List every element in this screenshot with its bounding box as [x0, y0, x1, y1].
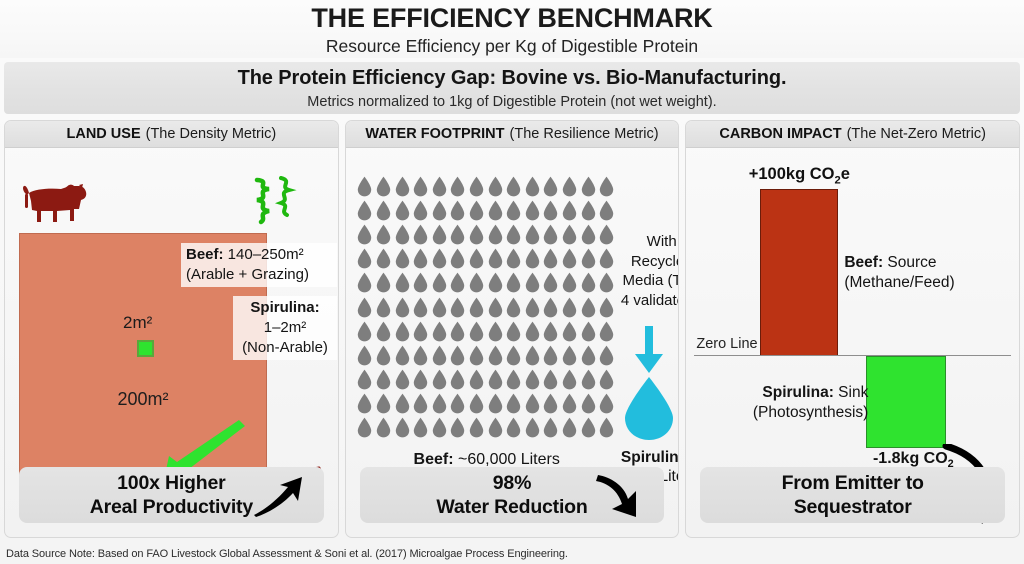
beef-land-area-label: 200m² [20, 389, 266, 410]
water-droplet-icon [430, 198, 449, 222]
water-droplet-icon [430, 247, 449, 271]
beef-carbon-note-rest: Source [883, 254, 936, 271]
banner-subtitle: Metrics normalized to 1kg of Digestible … [4, 92, 1020, 112]
water-droplet-icon [411, 271, 430, 295]
water-droplet-icon [374, 368, 393, 392]
beef-carbon-note: Beef: Source (Methane/Feed) [844, 253, 1004, 293]
water-droplet-icon [504, 222, 523, 246]
carbon-summary-text: From Emitter to Sequestrator [782, 471, 924, 519]
water-droplet-icon [504, 174, 523, 198]
spirulina-land-callout-label: Spirulina: [250, 299, 319, 316]
water-droplet-icon [449, 247, 468, 271]
water-droplet-icon [560, 198, 579, 222]
panels-row: LAND USE (The Density Metric) [4, 120, 1020, 538]
water-droplet-icon [374, 295, 393, 319]
panel-carbon-impact-body: +100kg CO2e Zero Line Beef: Source (Meth… [686, 148, 1019, 537]
water-droplet-icon [486, 247, 505, 271]
water-droplet-icon [486, 319, 505, 343]
water-droplet-icon [393, 392, 412, 416]
beef-water-droplet-grid [356, 174, 616, 440]
water-droplet-icon [411, 392, 430, 416]
water-droplet-icon [467, 392, 486, 416]
water-droplet-icon [597, 392, 616, 416]
down-arrow-icon [594, 473, 642, 519]
water-droplet-icon [560, 368, 579, 392]
water-droplet-icon [523, 416, 542, 440]
water-droplet-icon [430, 392, 449, 416]
water-droplet-icon [449, 416, 468, 440]
water-droplet-icon [542, 247, 561, 271]
water-droplet-icon [523, 271, 542, 295]
spirulina-carbon-note-bold: Spirulina: [762, 384, 833, 401]
water-droplet-icon [523, 343, 542, 367]
water-droplet-icon [560, 222, 579, 246]
infographic-root: THE EFFICIENCY BENCHMARK Resource Effici… [0, 0, 1024, 564]
water-droplet-icon [467, 343, 486, 367]
water-droplet-icon [356, 392, 375, 416]
water-droplet-icon [356, 295, 375, 319]
carbon-summary-line1: From Emitter to [782, 471, 924, 495]
water-droplet-icon [597, 222, 616, 246]
water-droplet-icon [411, 368, 430, 392]
water-droplet-icon [504, 198, 523, 222]
water-droplet-icon [560, 343, 579, 367]
spirulina-carbon-bar [866, 356, 946, 448]
spirulina-land-callout: Spirulina: 1–2m² (Non-Arable) [233, 296, 337, 360]
water-droplet-icon [449, 295, 468, 319]
water-droplet-icon [449, 271, 468, 295]
water-droplet-icon [523, 198, 542, 222]
spirulina-land-area-square [137, 340, 154, 357]
water-droplet-icon [430, 271, 449, 295]
water-droplet-icon [467, 295, 486, 319]
spirulina-carbon-note-rest: Sink [834, 384, 868, 401]
water-droplet-icon [393, 247, 412, 271]
water-droplet-icon [356, 343, 375, 367]
water-summary-line1: 98% [436, 471, 587, 495]
water-droplet-icon [523, 222, 542, 246]
water-droplet-icon [393, 416, 412, 440]
up-arrow-icon [252, 475, 306, 517]
water-droplet-icon [374, 247, 393, 271]
water-droplet-icon [504, 368, 523, 392]
cyan-down-arrow-icon [632, 326, 666, 374]
panel-water-footprint: WATER FOOTPRINT (The Resilience Metric) … [345, 120, 680, 538]
water-droplet-icon [504, 416, 523, 440]
beef-land-callout: Beef: 140–250m² (Arable + Grazing) [181, 243, 337, 287]
spirulina-carbon-note: Spirulina: Sink (Photosynthesis) [734, 383, 868, 423]
water-droplet-icon [374, 343, 393, 367]
water-droplet-icon [579, 416, 598, 440]
water-droplet-icon [467, 368, 486, 392]
water-droplet-icon [393, 295, 412, 319]
water-droplet-icon [597, 247, 616, 271]
water-droplet-icon [560, 174, 579, 198]
water-droplet-icon [374, 222, 393, 246]
water-droplet-icon [393, 222, 412, 246]
panel-land-use: LAND USE (The Density Metric) [4, 120, 339, 538]
water-droplet-icon [486, 343, 505, 367]
water-droplet-icon [356, 368, 375, 392]
water-droplet-icon [560, 319, 579, 343]
panel-water-footprint-title: WATER FOOTPRINT [365, 126, 504, 142]
water-droplet-icon [411, 198, 430, 222]
water-droplet-icon [356, 247, 375, 271]
water-droplet-icon [374, 392, 393, 416]
water-summary-pill: 98% Water Reduction [360, 467, 665, 523]
water-droplet-icon [523, 319, 542, 343]
water-droplet-icon [486, 295, 505, 319]
water-droplet-icon [374, 319, 393, 343]
panel-water-footprint-body: Beef: ~60,000 Liters With Recycled Media… [346, 148, 679, 537]
water-droplet-icon [467, 222, 486, 246]
spirulina-water-label-bold: Spirulina: [621, 449, 679, 466]
water-droplet-icon [542, 222, 561, 246]
water-droplet-icon [542, 198, 561, 222]
water-droplet-icon [374, 198, 393, 222]
carbon-summary-pill: From Emitter to Sequestrator [700, 467, 1005, 523]
water-droplet-icon [560, 392, 579, 416]
water-droplet-icon [579, 295, 598, 319]
carbon-summary-line2: Sequestrator [782, 495, 924, 519]
beef-carbon-note-bold: Beef: [844, 254, 883, 271]
water-droplet-icon [467, 416, 486, 440]
water-droplet-icon [467, 174, 486, 198]
water-droplet-icon [579, 198, 598, 222]
water-droplet-icon [523, 368, 542, 392]
panel-land-use-body: 200m² 2m² Beef: 140–250m² (Ar [5, 148, 338, 537]
recycled-media-note: With Recycled Media (TRL 4 validated). [618, 232, 680, 310]
water-droplet-icon [430, 368, 449, 392]
zero-line [694, 355, 1011, 356]
water-summary-text: 98% Water Reduction [436, 471, 587, 519]
water-droplet-icon [560, 271, 579, 295]
water-droplet-icon [542, 392, 561, 416]
water-droplet-icon [486, 392, 505, 416]
land-use-summary-pill: 100x Higher Areal Productivity [19, 467, 324, 523]
water-droplet-icon [449, 343, 468, 367]
water-droplet-icon [597, 198, 616, 222]
source-note: Data Source Note: Based on FAO Livestock… [6, 548, 568, 560]
spirulina-land-area-label: 2m² [123, 313, 152, 333]
water-droplet-icon [579, 222, 598, 246]
water-droplet-icon [523, 392, 542, 416]
water-droplet-icon [504, 247, 523, 271]
water-droplet-icon [356, 319, 375, 343]
masthead: THE EFFICIENCY BENCHMARK Resource Effici… [0, 0, 1024, 58]
water-droplet-icon [430, 174, 449, 198]
beef-carbon-bar [760, 189, 838, 356]
water-droplet-icon [504, 271, 523, 295]
beef-water-label-bold: Beef: [414, 451, 454, 468]
spirulina-squiggle-icon [251, 176, 297, 226]
water-droplet-icon [486, 271, 505, 295]
panel-water-footprint-header: WATER FOOTPRINT (The Resilience Metric) [346, 121, 679, 148]
water-droplet-icon [393, 198, 412, 222]
water-droplet-icon [504, 319, 523, 343]
panel-carbon-impact-subtitle: (The Net-Zero Metric) [847, 126, 986, 142]
water-droplet-icon [542, 295, 561, 319]
water-droplet-icon [597, 416, 616, 440]
water-droplet-icon [542, 319, 561, 343]
water-droplet-icon [467, 198, 486, 222]
water-droplet-icon [449, 392, 468, 416]
water-droplet-icon [449, 319, 468, 343]
beef-water-label-value: ~60,000 Liters [454, 451, 560, 468]
water-droplet-icon [579, 174, 598, 198]
water-droplet-icon [467, 247, 486, 271]
water-droplet-icon [449, 368, 468, 392]
water-droplet-icon [579, 271, 598, 295]
water-droplet-icon [356, 271, 375, 295]
water-droplet-icon [486, 198, 505, 222]
page-title: THE EFFICIENCY BENCHMARK [0, 0, 1024, 34]
beef-land-callout-label: Beef: [186, 246, 224, 263]
beef-carbon-note-sub: (Methane/Feed) [844, 273, 1004, 293]
water-droplet-icon [504, 295, 523, 319]
water-droplet-icon [393, 174, 412, 198]
water-droplet-icon [597, 271, 616, 295]
water-droplet-icon [579, 247, 598, 271]
water-droplet-icon [579, 319, 598, 343]
beef-land-callout-sub: (Arable + Grazing) [186, 265, 332, 285]
land-use-summary-line1: 100x Higher [90, 471, 253, 495]
water-droplet-icon [411, 295, 430, 319]
section-banner: The Protein Efficiency Gap: Bovine vs. B… [4, 62, 1020, 114]
beef-carbon-value-label: +100kg CO2e [704, 165, 894, 186]
water-droplet-icon [542, 271, 561, 295]
panel-carbon-impact-header: CARBON IMPACT (The Net-Zero Metric) [686, 121, 1019, 148]
water-droplet-icon [430, 416, 449, 440]
water-droplet-icon [579, 368, 598, 392]
water-droplet-icon [560, 247, 579, 271]
water-droplet-icon [597, 343, 616, 367]
water-droplet-icon [579, 392, 598, 416]
water-droplet-icon [449, 198, 468, 222]
spirulina-land-callout-sub: (Non-Arable) [238, 338, 332, 358]
cow-icon [19, 181, 93, 225]
water-droplet-icon [542, 368, 561, 392]
page-subtitle: Resource Efficiency per Kg of Digestible… [0, 34, 1024, 58]
water-droplet-icon [467, 271, 486, 295]
water-droplet-icon [449, 174, 468, 198]
water-droplet-icon [411, 247, 430, 271]
water-droplet-icon [597, 295, 616, 319]
water-droplet-icon [504, 343, 523, 367]
water-droplet-icon [374, 174, 393, 198]
water-droplet-icon [542, 174, 561, 198]
water-summary-line2: Water Reduction [436, 495, 587, 519]
panel-carbon-impact: CARBON IMPACT (The Net-Zero Metric) +100… [685, 120, 1020, 538]
water-droplet-icon [504, 392, 523, 416]
water-droplet-icon [430, 222, 449, 246]
water-droplet-icon [560, 416, 579, 440]
water-droplet-icon [449, 222, 468, 246]
water-droplet-icon [486, 174, 505, 198]
water-droplet-icon [597, 319, 616, 343]
water-droplet-icon [374, 271, 393, 295]
water-droplet-icon [411, 222, 430, 246]
spirulina-carbon-note-sub: (Photosynthesis) [734, 403, 868, 423]
water-droplet-icon [523, 247, 542, 271]
water-droplet-icon [486, 222, 505, 246]
spirulina-land-callout-value: 1–2m² [238, 318, 332, 338]
water-droplet-icon [393, 271, 412, 295]
panel-water-footprint-subtitle: (The Resilience Metric) [510, 126, 659, 142]
water-droplet-icon [486, 416, 505, 440]
water-droplet-icon [393, 343, 412, 367]
cyan-droplet-icon [620, 376, 678, 442]
water-droplet-icon [374, 416, 393, 440]
panel-land-use-subtitle: (The Density Metric) [146, 126, 277, 142]
water-droplet-icon [356, 222, 375, 246]
water-droplet-icon [467, 319, 486, 343]
water-droplet-icon [523, 295, 542, 319]
water-droplet-icon [486, 368, 505, 392]
panel-land-use-header: LAND USE (The Density Metric) [5, 121, 338, 148]
water-droplet-icon [393, 368, 412, 392]
banner-title: The Protein Efficiency Gap: Bovine vs. B… [4, 62, 1020, 92]
water-droplet-icon [411, 174, 430, 198]
zero-line-label: Zero Line [696, 336, 757, 352]
land-use-summary-line2: Areal Productivity [90, 495, 253, 519]
panel-land-use-title: LAND USE [67, 126, 141, 142]
water-droplet-icon [542, 343, 561, 367]
water-droplet-icon [356, 174, 375, 198]
water-droplet-icon [356, 198, 375, 222]
water-droplet-icon [560, 295, 579, 319]
water-droplet-icon [430, 295, 449, 319]
beef-land-callout-value: 140–250m² [224, 246, 304, 263]
water-droplet-icon [356, 416, 375, 440]
water-droplet-icon [579, 343, 598, 367]
water-droplet-icon [430, 319, 449, 343]
water-droplet-icon [523, 174, 542, 198]
water-droplet-icon [597, 174, 616, 198]
water-droplet-icon [411, 343, 430, 367]
land-use-summary-text: 100x Higher Areal Productivity [90, 471, 253, 519]
panel-carbon-impact-title: CARBON IMPACT [719, 126, 841, 142]
water-droplet-icon [411, 319, 430, 343]
water-droplet-icon [542, 416, 561, 440]
water-droplet-icon [411, 416, 430, 440]
water-droplet-icon [393, 319, 412, 343]
water-droplet-icon [597, 368, 616, 392]
water-droplet-icon [430, 343, 449, 367]
